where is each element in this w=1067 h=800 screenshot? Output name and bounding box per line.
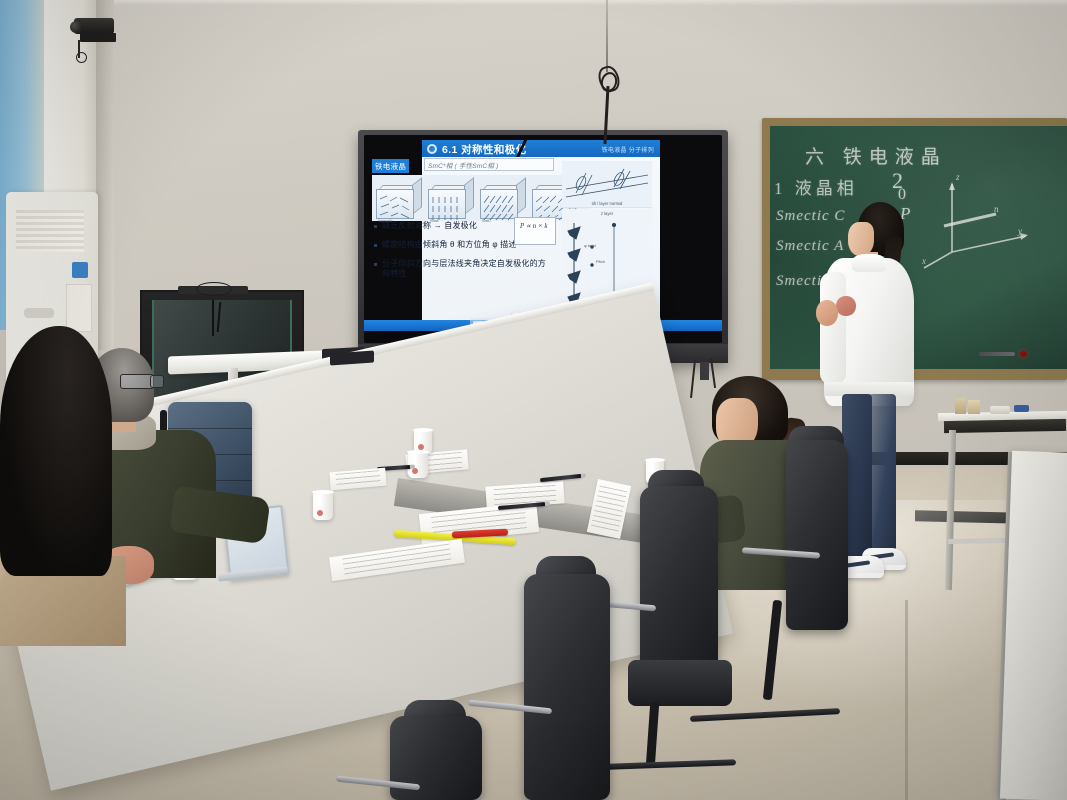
pen-tip: [410, 465, 415, 469]
rack-inner-cable: [212, 300, 214, 336]
slide-figure-top: tilt / layer normal: [562, 161, 652, 208]
chair-seat: [628, 660, 732, 706]
floor-seam: [905, 600, 908, 800]
cube-front-face: [376, 189, 414, 219]
ac-label: [66, 284, 92, 332]
cup-logo: [317, 510, 323, 516]
presenter-sleeve: [820, 272, 846, 384]
rack-cable-loop: [196, 282, 232, 296]
ac-smudge: [24, 308, 54, 318]
slide-bullet: 分子倾斜方向与层法线夹角决定自发极化的方向特性: [374, 259, 554, 279]
chalk-box[interactable]: [968, 400, 980, 414]
axis-label-n: n: [994, 204, 999, 214]
phase-cube-row: Nematic: [372, 175, 590, 221]
cup-logo: [412, 468, 418, 474]
axis-label-x: x: [922, 256, 926, 266]
cube-front-face: [480, 189, 518, 219]
blackboard-line-4: Smectic A: [776, 238, 844, 255]
slide-formula-box: P ∝ n × k: [514, 217, 556, 245]
classroom-photo: 六 铁电液晶 1 液晶相 Smectic C Smectic A Smectic…: [0, 0, 1067, 800]
cable-shadow-on-screen: [514, 140, 528, 157]
cube-front-face: [428, 189, 466, 219]
axis-label-y: y: [1018, 226, 1022, 236]
chair-backrest: [640, 486, 718, 684]
eyeglasses-lens-icon: [150, 375, 164, 388]
cup-rim: [645, 458, 665, 462]
ceiling-edge: [0, 0, 1067, 6]
axis-label-z: z: [956, 172, 960, 182]
presenter-face: [848, 222, 874, 256]
blackboard-note-1: 2: [892, 168, 903, 194]
board-eraser[interactable]: [990, 406, 1010, 414]
chair-backrest: [786, 440, 848, 630]
ceiling-drop-cable: [596, 0, 636, 150]
phase-cube: SmC: [480, 185, 526, 218]
phase-cube: SmA: [428, 185, 474, 218]
shoe-stripe: [846, 560, 870, 567]
blackboard-line-1: 六 铁电液晶: [805, 142, 947, 169]
blue-marker[interactable]: [1014, 405, 1029, 412]
figure-axis-top-label: z layer: [562, 211, 652, 216]
presenter-jeans-right: [868, 394, 896, 562]
cup-rim: [413, 428, 433, 432]
presenter-collar: [852, 254, 886, 272]
blackboard-axes-diagram: z y x n: [922, 174, 1032, 269]
figure-axis-mid-label: φ twist: [584, 243, 596, 248]
blackboard-line-3: Smectic C: [776, 208, 845, 225]
side-table-apron: [944, 419, 1066, 433]
slide-field-value: SmC*相 ( 手性SmC相 ): [428, 160, 498, 170]
slide-tag: 铁电液晶: [372, 159, 409, 173]
handout-text-lines: [591, 486, 626, 532]
phase-cube: Nematic: [376, 185, 422, 218]
ac-control-panel[interactable]: [72, 262, 88, 278]
attendee-hair: [0, 326, 112, 576]
chalk-box[interactable]: [955, 398, 966, 414]
camera-lens-icon: [70, 21, 82, 33]
paper-cup[interactable]: [313, 492, 333, 520]
blackboard-line-2: 1 液晶相: [774, 174, 858, 199]
cup-rim: [407, 450, 429, 454]
blackboard: 六 铁电液晶 1 液晶相 Smectic C Smectic A Smectic…: [770, 126, 1067, 369]
display-power-led-icon: [1020, 351, 1027, 357]
ac-grill: [16, 210, 84, 252]
camera-mount: [80, 33, 116, 42]
blackboard-note-2: 0: [898, 186, 906, 204]
figure-top-caption: tilt / layer normal: [562, 201, 652, 206]
slide-bullet-icon: [427, 144, 437, 154]
display-stand-right: [700, 362, 709, 380]
eyeglasses-icon: [120, 374, 154, 389]
camera-cord-loop: [76, 52, 87, 63]
handout-text-lines: [335, 470, 381, 488]
slide-formula: P ∝ n × k: [520, 222, 547, 230]
presenter-hand-holding-chalk: [836, 296, 856, 316]
display-ir-sensor: [979, 352, 1015, 356]
cable-strand: [606, 0, 608, 72]
cable-tail: [603, 86, 609, 144]
cup-rim: [312, 490, 334, 494]
slide-field: SmC*相 ( 手性SmC相 ): [424, 158, 554, 171]
figure-axis-label: Pitch: [596, 259, 605, 264]
chair-backrest: [524, 574, 610, 800]
presenter-hand: [816, 300, 838, 326]
wall-corner-shadow: [96, 0, 114, 350]
right-table: [1000, 451, 1067, 800]
